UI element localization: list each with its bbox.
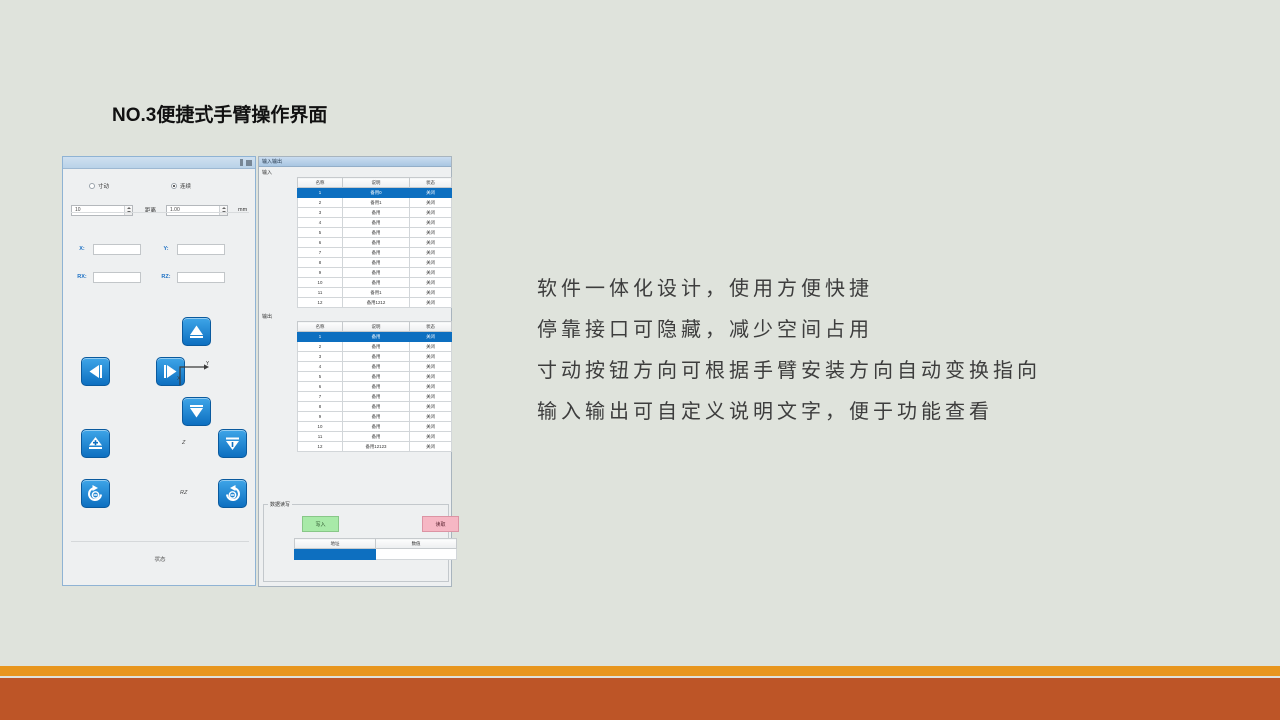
cell-state[interactable]: 关闭	[410, 248, 452, 258]
cell-desc[interactable]: 备用	[343, 208, 410, 218]
jog-rz-row: RZ	[63, 479, 257, 519]
jog-rz-label: RZ	[180, 490, 187, 496]
cell-name[interactable]: 5	[298, 228, 343, 238]
io-input-table[interactable]: 名称 说明 状态 1备用0关闭2备用1关闭3备用关闭4备用关闭5备用关闭6备用关…	[297, 177, 452, 308]
cell-desc[interactable]: 备用12123	[343, 442, 410, 452]
cell-desc[interactable]: 备用	[343, 372, 410, 382]
cell-desc[interactable]: 备用	[343, 248, 410, 258]
column-header-desc[interactable]: 说明	[343, 178, 410, 188]
accent-bar-rust	[0, 678, 1280, 720]
table-row[interactable]: 2备用关闭	[298, 342, 452, 352]
coord-rz-label: RZ:	[155, 274, 177, 280]
table-row[interactable]: 3备用关闭	[298, 208, 452, 218]
rotate-ccw-icon	[86, 484, 105, 503]
table-row[interactable]: 12备用1212关闭	[298, 298, 452, 308]
cell-state[interactable]: 关闭	[410, 278, 452, 288]
jog-directional-pad: Y X	[63, 315, 257, 420]
cell-name[interactable]: 9	[298, 412, 343, 422]
cell-desc[interactable]: 备用	[343, 258, 410, 268]
cell-state[interactable]: 关闭	[410, 432, 452, 442]
cell-desc[interactable]: 备用	[343, 238, 410, 248]
radio-icon	[89, 183, 95, 189]
cell-desc[interactable]: 备用	[343, 382, 410, 392]
cell-state[interactable]: 关闭	[410, 412, 452, 422]
coord-rx-label: RX:	[71, 274, 93, 280]
jog-distance-value: 1.00	[167, 206, 219, 215]
column-header-address[interactable]: 地址	[295, 539, 376, 549]
io-window: 输入输出 输入 名称 说明 状态 1备用0关闭2备用1关闭3备用关闭4备用关闭5…	[258, 156, 452, 587]
table-row[interactable]: 6备用关闭	[298, 382, 452, 392]
cell-state[interactable]: 关闭	[410, 332, 452, 342]
feature-line-3: 寸动按钮方向可根据手臂安装方向自动变换指向	[537, 350, 1217, 391]
cell-name[interactable]: 9	[298, 268, 343, 278]
cell-name[interactable]: 7	[298, 248, 343, 258]
divider	[71, 541, 249, 542]
application-screenshot: 寸动 连续 10 距离 1.00 mm X: Y:	[62, 156, 452, 587]
cell-desc[interactable]: 备用1	[343, 288, 410, 298]
column-header-desc[interactable]: 说明	[343, 322, 410, 332]
cell-desc[interactable]: 备用1	[343, 198, 410, 208]
cell-name[interactable]: 8	[298, 402, 343, 412]
rotate-cw-icon	[223, 484, 242, 503]
table-row[interactable]: 1备用关闭	[298, 332, 452, 342]
svg-text:Y: Y	[205, 361, 210, 367]
cell-state[interactable]: 关闭	[410, 298, 452, 308]
cell-desc[interactable]: 备用	[343, 392, 410, 402]
cell-desc[interactable]: 备用	[343, 332, 410, 342]
cell-state[interactable]: 关闭	[410, 228, 452, 238]
stepper-arrows-icon[interactable]	[219, 206, 227, 215]
arrow-up-icon	[188, 323, 205, 340]
feature-line-1: 软件一体化设计，使用方便快捷	[537, 268, 1217, 309]
table-row[interactable]: 5备用关闭	[298, 372, 452, 382]
cell-name[interactable]: 6	[298, 238, 343, 248]
arrow-down-icon	[188, 403, 205, 420]
io-output-table-body: 1备用关闭2备用关闭3备用关闭4备用关闭5备用关闭6备用关闭7备用关闭8备用关闭…	[298, 332, 452, 452]
jog-z-label: Z	[182, 440, 185, 446]
accent-bar-orange	[0, 666, 1280, 676]
feature-line-4: 输入输出可自定义说明文字，便于功能查看	[537, 391, 1217, 432]
cell-state[interactable]: 关闭	[410, 372, 452, 382]
jog-z-minus-button[interactable]	[218, 429, 247, 458]
io-output-table[interactable]: 名称 说明 状态 1备用关闭2备用关闭3备用关闭4备用关闭5备用关闭6备用关闭7…	[297, 321, 452, 452]
table-row[interactable]: 11备用关闭	[298, 432, 452, 442]
table-row[interactable]: 9备用关闭	[298, 268, 452, 278]
cell-desc[interactable]: 备用	[343, 362, 410, 372]
column-header-state[interactable]: 状态	[410, 178, 452, 188]
table-row[interactable]: 3备用关闭	[298, 352, 452, 362]
cell-name[interactable]: 4	[298, 362, 343, 372]
cell-state[interactable]: 关闭	[410, 268, 452, 278]
jog-distance-stepper[interactable]: 1.00	[166, 205, 228, 216]
cell-value[interactable]	[376, 549, 457, 560]
cell-state[interactable]: 关闭	[410, 218, 452, 228]
table-header-row: 地址 数值	[295, 539, 457, 549]
table-row[interactable]: 8备用关闭	[298, 402, 452, 412]
cell-name[interactable]: 11	[298, 288, 343, 298]
jog-x-minus-button[interactable]	[81, 357, 110, 386]
cell-desc[interactable]: 备用	[343, 432, 410, 442]
cell-name[interactable]: 12	[298, 298, 343, 308]
table-row[interactable]: 12备用12123关闭	[298, 442, 452, 452]
table-row[interactable]: 9备用关闭	[298, 412, 452, 422]
cell-state[interactable]: 关闭	[410, 208, 452, 218]
jog-rz-ccw-button[interactable]	[81, 479, 110, 508]
cell-name[interactable]: 2	[298, 198, 343, 208]
read-button[interactable]: 读取	[422, 516, 459, 532]
pin-icon[interactable]	[240, 159, 243, 166]
coord-y-label: Y:	[155, 246, 177, 252]
data-read-write-table[interactable]: 地址 数值	[294, 538, 457, 560]
cell-state[interactable]: 关闭	[410, 342, 452, 352]
close-icon[interactable]	[246, 160, 252, 166]
jog-y-plus-button[interactable]	[182, 317, 211, 346]
table-row[interactable]: 6备用关闭	[298, 238, 452, 248]
io-input-table-body: 1备用0关闭2备用1关闭3备用关闭4备用关闭5备用关闭6备用关闭7备用关闭8备用…	[298, 188, 452, 308]
cell-desc[interactable]: 备用0	[343, 188, 410, 198]
cell-state[interactable]: 关闭	[410, 288, 452, 298]
cell-name[interactable]: 7	[298, 392, 343, 402]
coordinate-fields: X: Y: RX: RZ:	[63, 242, 257, 284]
arrow-up-plus-icon	[87, 435, 104, 452]
cell-address[interactable]	[295, 549, 376, 560]
cell-name[interactable]: 10	[298, 278, 343, 288]
cell-state[interactable]: 关闭	[410, 238, 452, 248]
cell-name[interactable]: 5	[298, 372, 343, 382]
column-header-name[interactable]: 名称	[298, 178, 343, 188]
cell-state[interactable]: 关闭	[410, 382, 452, 392]
radio-icon	[171, 183, 177, 189]
cell-name[interactable]: 1	[298, 188, 343, 198]
jog-mode-continuous-label: 连续	[180, 182, 191, 190]
jog-control-window: 寸动 连续 10 距离 1.00 mm X: Y:	[62, 156, 256, 586]
cell-state[interactable]: 关闭	[410, 362, 452, 372]
cell-state[interactable]: 关闭	[410, 442, 452, 452]
column-header-value[interactable]: 数值	[376, 539, 457, 549]
jog-speed-value: 10	[72, 206, 124, 215]
write-button[interactable]: 写入	[302, 516, 339, 532]
cell-name[interactable]: 2	[298, 342, 343, 352]
cell-desc[interactable]: 备用	[343, 352, 410, 362]
cell-state[interactable]: 关闭	[410, 402, 452, 412]
coordinate-row-xy: X: Y:	[71, 242, 257, 256]
data-read-write-title: 数据读写	[268, 501, 292, 508]
cell-state[interactable]: 关闭	[410, 188, 452, 198]
arrow-left-icon	[87, 363, 104, 380]
cell-desc[interactable]: 备用	[343, 268, 410, 278]
cell-name[interactable]: 12	[298, 442, 343, 452]
xy-axis-indicator-icon: Y X	[176, 361, 212, 387]
jog-y-minus-button[interactable]	[182, 397, 211, 426]
jog-speed-stepper[interactable]: 10	[71, 205, 133, 216]
coord-y-input[interactable]	[177, 244, 225, 255]
cell-name[interactable]: 6	[298, 382, 343, 392]
io-output-section-label: 输出	[259, 311, 451, 321]
table-header-row: 名称 说明 状态	[298, 322, 452, 332]
jog-mode-continuous-radio[interactable]: 连续	[171, 182, 191, 190]
jog-window-titlebar	[63, 157, 255, 169]
table-row[interactable]: 7备用关闭	[298, 248, 452, 258]
table-header-row: 名称 说明 状态	[298, 178, 452, 188]
cell-name[interactable]: 8	[298, 258, 343, 268]
table-row[interactable]: 4备用关闭	[298, 362, 452, 372]
jog-z-plus-button[interactable]	[81, 429, 110, 458]
cell-state[interactable]: 关闭	[410, 258, 452, 268]
cell-state[interactable]: 关闭	[410, 198, 452, 208]
table-row[interactable]: 4备用关闭	[298, 218, 452, 228]
table-row[interactable]: 2备用1关闭	[298, 198, 452, 208]
data-read-write-group: 数据读写 写入 读取 地址 数值	[263, 504, 449, 582]
column-header-state[interactable]: 状态	[410, 322, 452, 332]
table-row[interactable]: 8备用关闭	[298, 258, 452, 268]
coord-x-input[interactable]	[93, 244, 141, 255]
jog-rz-cw-button[interactable]	[218, 479, 247, 508]
cell-name[interactable]: 3	[298, 208, 343, 218]
page-title: NO.3便捷式手臂操作界面	[112, 100, 327, 127]
table-row[interactable]	[295, 549, 457, 560]
coord-x-label: X:	[71, 246, 93, 252]
jog-z-row: Z	[63, 429, 257, 469]
jog-mode-step-radio[interactable]: 寸动	[89, 182, 109, 190]
cell-desc[interactable]: 备用	[343, 342, 410, 352]
cell-desc[interactable]: 备用	[343, 228, 410, 238]
cell-desc[interactable]: 备用	[343, 422, 410, 432]
coord-rx-input[interactable]	[93, 272, 141, 283]
coordinate-row-rxrz: RX: RZ:	[71, 270, 257, 284]
feature-line-2: 停靠接口可隐藏，减少空间占用	[537, 309, 1217, 350]
cell-name[interactable]: 4	[298, 218, 343, 228]
arrow-down-minus-icon	[224, 435, 241, 452]
cell-desc[interactable]: 备用	[343, 218, 410, 228]
cell-state[interactable]: 关闭	[410, 392, 452, 402]
cell-state[interactable]: 关闭	[410, 422, 452, 432]
cell-desc[interactable]: 备用	[343, 278, 410, 288]
io-input-section-label: 输入	[259, 167, 451, 177]
cell-desc[interactable]: 备用	[343, 402, 410, 412]
jog-step-row: 10 距离 1.00 mm	[71, 202, 255, 218]
divider	[71, 212, 249, 213]
io-window-titlebar: 输入输出	[259, 157, 451, 167]
jog-mode-row: 寸动 连续	[63, 169, 255, 197]
cell-desc[interactable]: 备用1212	[343, 298, 410, 308]
svg-text:X: X	[177, 376, 181, 382]
io-window-title: 输入输出	[262, 158, 282, 165]
table-row[interactable]: 7备用关闭	[298, 392, 452, 402]
cell-name[interactable]: 11	[298, 432, 343, 442]
cell-name[interactable]: 3	[298, 352, 343, 362]
cell-desc[interactable]: 备用	[343, 412, 410, 422]
cell-state[interactable]: 关闭	[410, 352, 452, 362]
jog-mode-step-label: 寸动	[98, 182, 109, 190]
column-header-name[interactable]: 名称	[298, 322, 343, 332]
cell-name[interactable]: 10	[298, 422, 343, 432]
stepper-arrows-icon[interactable]	[124, 206, 132, 215]
coord-rz-input[interactable]	[177, 272, 225, 283]
table-row[interactable]: 10备用关闭	[298, 422, 452, 432]
table-row[interactable]: 10备用关闭	[298, 278, 452, 288]
table-row[interactable]: 1备用0关闭	[298, 188, 452, 198]
table-row[interactable]: 5备用关闭	[298, 228, 452, 238]
jog-status-label: 状态	[63, 555, 257, 563]
cell-name[interactable]: 1	[298, 332, 343, 342]
table-row[interactable]: 11备用1关闭	[298, 288, 452, 298]
feature-description: 软件一体化设计，使用方便快捷 停靠接口可隐藏，减少空间占用 寸动按钮方向可根据手…	[537, 268, 1217, 432]
